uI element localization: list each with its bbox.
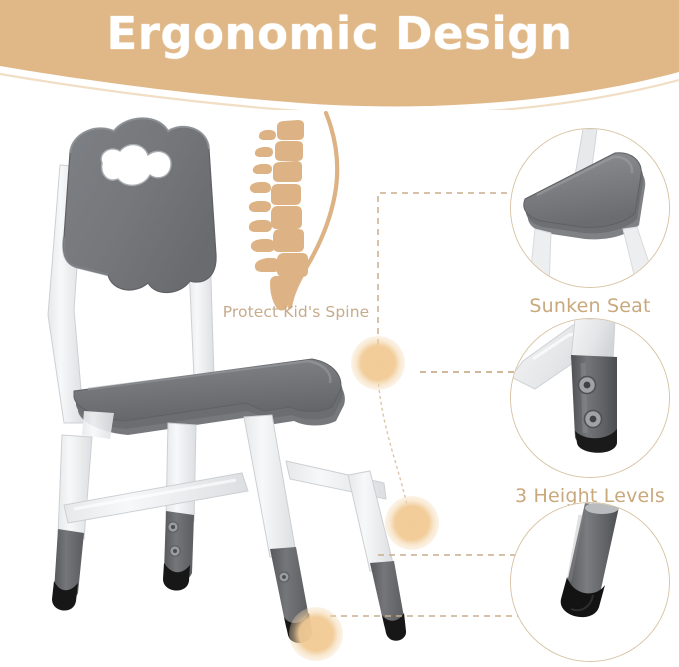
marker-dot-pad: [289, 607, 343, 661]
callout-height-levels[interactable]: 3 Height Levels: [498, 318, 679, 507]
callout-label-sunken-seat: Sunken Seat: [498, 295, 679, 317]
marker-dot-seat: [351, 336, 405, 390]
page-title: Ergonomic Design: [0, 7, 679, 61]
callout-sunken-seat[interactable]: Sunken Seat: [498, 128, 679, 317]
non-slip-pad-photo: [510, 502, 670, 662]
height-adjust-leg-photo: [510, 318, 670, 478]
sunken-seat-photo: [510, 128, 670, 288]
spine-caption: Protect Kid's Spine: [196, 303, 396, 321]
marker-dot-height: [385, 496, 439, 550]
callout-non-slip-pad[interactable]: Non-slip Pad: [498, 502, 679, 667]
infographic-page: Ergonomic Design: [0, 0, 679, 667]
spine-icon: [240, 108, 370, 313]
